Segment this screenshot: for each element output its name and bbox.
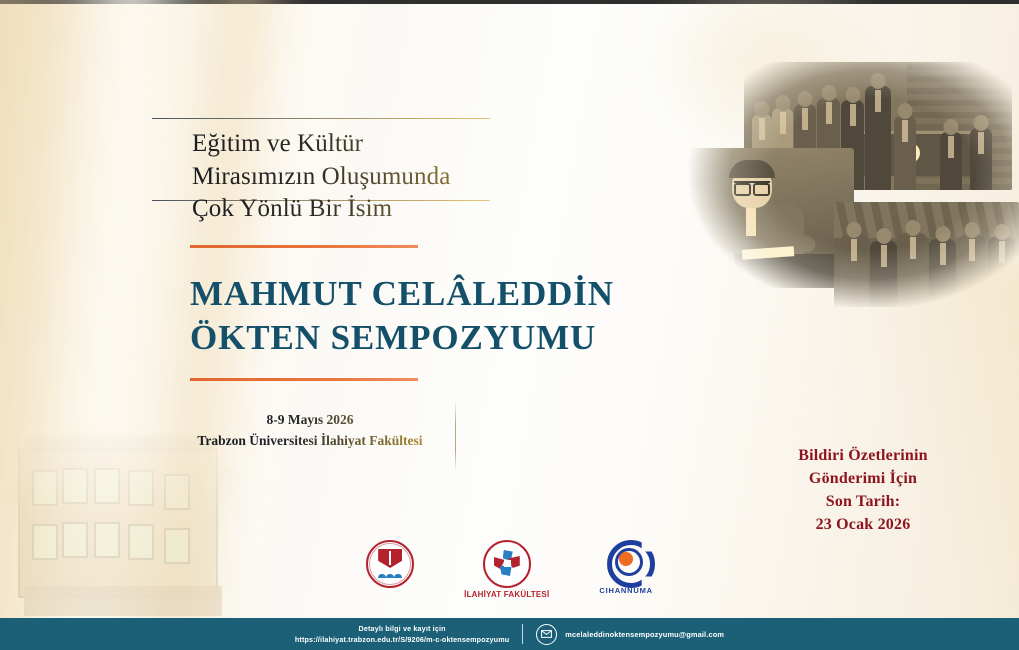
figure-speaker: [865, 86, 891, 190]
group-photo-lower: [834, 202, 1019, 307]
trabzon-universitesi-icon: [366, 540, 414, 588]
envelope-icon: [536, 624, 557, 645]
logo-cihannuma: CIHANNÜMA: [599, 540, 652, 595]
window: [164, 474, 190, 510]
window: [32, 470, 58, 506]
glasses-icon: [734, 181, 770, 192]
page-title: MAHMUT CELÂLEDDİN ÖKTEN SEMPOZYUMU: [190, 272, 710, 360]
figure: [940, 132, 962, 190]
logo-caption-cihannuma: CIHANNÜMA: [599, 587, 652, 595]
center-dot: [619, 552, 633, 566]
hair: [729, 160, 775, 178]
figure: [840, 235, 868, 307]
tie: [746, 206, 756, 236]
venue-and-date: 8-9 Mayıs 2026 Trabzon Üniversitesi İlah…: [180, 410, 440, 452]
subtitle-text: Eğitim ve Kültür Mirasımızın Oluşumunda …: [192, 128, 612, 226]
figure: [988, 237, 1015, 307]
top-border: [0, 0, 1019, 4]
footer-email[interactable]: mcelaleddinoktensempozyumu@gmail.com: [565, 630, 724, 639]
poster-canvas: Eğitim ve Kültür Mirasımızın Oluşumunda …: [0, 0, 1019, 650]
figure: [929, 239, 956, 307]
figure: [870, 241, 897, 307]
accent-rule-below-title: [190, 378, 418, 381]
footer-email-block: mcelaleddinoktensempozyumu@gmail.com: [536, 624, 724, 645]
footer-info-label: Detaylı bilgi ve kayıt için: [295, 623, 509, 634]
figure: [970, 128, 992, 190]
logo-ilahiyat-fakultesi: İLAHİYAT FAKÜLTESİ: [464, 540, 549, 599]
window: [62, 468, 88, 504]
divider-line-top: [152, 118, 490, 119]
footer-bar: Detaylı bilgi ve kayıt için https://ilah…: [0, 618, 1019, 650]
ink-set: [700, 252, 734, 264]
figure: [958, 235, 986, 307]
foliage: [834, 202, 1019, 238]
footer-separator: [522, 624, 523, 644]
ilahiyat-fakultesi-icon: [483, 540, 531, 588]
footer-info-block: Detaylı bilgi ve kayıt için https://ilah…: [295, 623, 509, 645]
logo-row: İLAHİYAT FAKÜLTESİ CIHANNÜMA: [0, 540, 1019, 602]
accent-rule-above-title: [190, 245, 418, 248]
wave-icon: [377, 569, 403, 578]
logo-caption-ilahiyat: İLAHİYAT FAKÜLTESİ: [464, 591, 549, 599]
figure: [898, 233, 927, 307]
cihannuma-icon: [604, 540, 648, 584]
submission-deadline: Bildiri Özetlerinin Gönderimi İçin Son T…: [743, 444, 983, 536]
window: [94, 468, 120, 504]
portrait-man-at-desk: [684, 148, 854, 288]
tulip-emblem-icon: [494, 550, 520, 576]
footer-url[interactable]: https://ilahiyat.trabzon.edu.tr/S/9206/m…: [295, 634, 509, 645]
logo-trabzon-universitesi: [366, 540, 414, 588]
figure: [894, 116, 916, 190]
historical-photo-collage: [684, 52, 1019, 307]
window: [128, 470, 154, 506]
vertical-divider: [455, 400, 456, 472]
